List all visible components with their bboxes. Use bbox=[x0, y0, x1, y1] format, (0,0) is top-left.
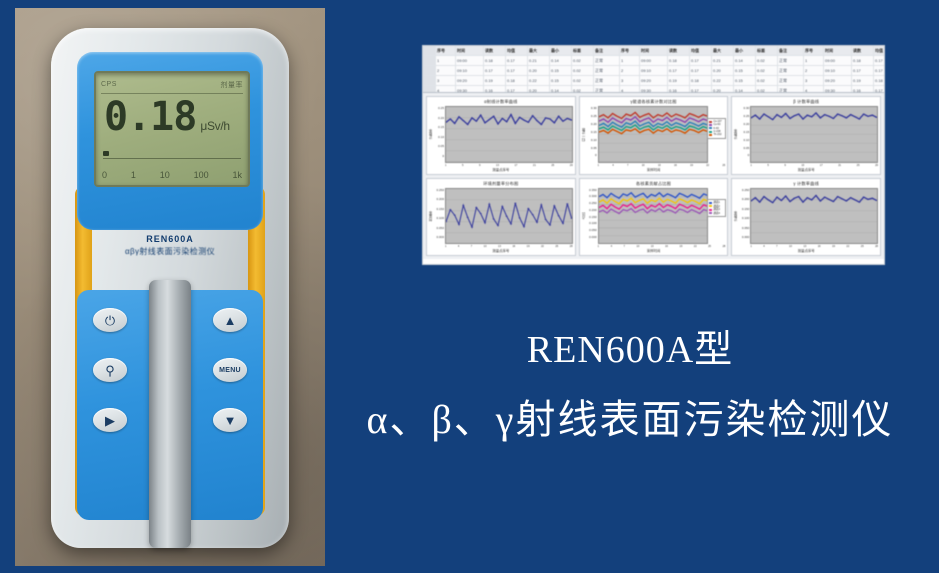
chart-plot-area bbox=[445, 188, 573, 245]
spreadsheet-cell: 09:10 bbox=[824, 66, 852, 75]
chart-x-axis-label: 测量点序号 bbox=[732, 167, 880, 174]
lcd-reading: 0.18 μSv/h bbox=[104, 97, 230, 137]
chart-y-tick: 0.150 bbox=[436, 207, 444, 211]
chart-plot-area bbox=[598, 188, 709, 245]
spreadsheet-cell: 0.14 bbox=[734, 56, 756, 65]
chart-data-point bbox=[872, 197, 874, 198]
spreadsheet-cell: 0.18 bbox=[506, 76, 528, 85]
chart-data-point bbox=[759, 118, 761, 119]
spreadsheet-cell: 0.14 bbox=[550, 56, 572, 65]
chart-data-point bbox=[772, 202, 774, 203]
chart-y-tick: 0.15 bbox=[743, 130, 749, 134]
lcd-value: 0.18 bbox=[104, 97, 196, 137]
chart-data-point bbox=[523, 226, 525, 227]
spreadsheet-cell: 0.22 bbox=[712, 76, 734, 85]
spreadsheet-cell: 0.19 bbox=[852, 76, 874, 85]
spreadsheet-row: 109:000.180.170.210.140.02正常109:000.180.… bbox=[423, 56, 884, 66]
spreadsheet-cell: 2 bbox=[804, 66, 824, 75]
chart-plot-area bbox=[750, 188, 878, 245]
chart-y-tick: 0.250 bbox=[742, 188, 750, 192]
chart-data-point bbox=[789, 201, 791, 202]
chart-data-point bbox=[841, 198, 843, 199]
chart-data-point bbox=[776, 114, 778, 115]
chevron-down-icon: ▼ bbox=[224, 414, 237, 427]
chart-data-point bbox=[571, 217, 572, 218]
spreadsheet-cell: 备注 bbox=[778, 46, 804, 55]
spreadsheet-cell: 0.16 bbox=[484, 86, 506, 93]
chart-data-point bbox=[527, 208, 529, 209]
spreadsheet-strip: 序号时间读数均值最大最小标差备注序号时间读数均值最大最小标差备注序号时间读数均值… bbox=[423, 46, 884, 93]
chart-data-point bbox=[497, 225, 499, 226]
chart-data-point bbox=[562, 222, 564, 223]
spreadsheet-row-index bbox=[423, 86, 436, 93]
lcd-status-row: CPS 剂量率 bbox=[101, 77, 243, 92]
spreadsheet-cell: 09:30 bbox=[456, 86, 484, 93]
chart-data-point bbox=[867, 198, 869, 199]
spreadsheet-cell: 最小 bbox=[550, 46, 572, 55]
chart-y-tick: 0.200 bbox=[742, 197, 750, 201]
spreadsheet-cell: 读数 bbox=[484, 46, 506, 55]
chart-data-point bbox=[833, 118, 835, 119]
chart-legend: 通道1通道2通道3通道4 bbox=[707, 199, 726, 217]
lcd-scale-tick: 1 bbox=[131, 170, 136, 180]
spreadsheet-cell: 0.17 bbox=[690, 86, 712, 93]
spreadsheet-cell: 4 bbox=[620, 86, 640, 93]
chart-x-axis-label: 测量点序号 bbox=[732, 248, 880, 255]
spreadsheet-cell: 0.16 bbox=[668, 86, 690, 93]
lcd-scale-tick: 1k bbox=[232, 170, 242, 180]
spreadsheet-cell: 0.18 bbox=[484, 56, 506, 65]
chart-data-point bbox=[510, 114, 512, 115]
chart-data-point bbox=[501, 118, 503, 119]
chart-data-point bbox=[545, 117, 547, 118]
software-screenshot: 序号时间读数均值最大最小标差备注序号时间读数均值最大最小标差备注序号时间读数均值… bbox=[422, 45, 885, 265]
legend-swatch bbox=[709, 124, 712, 126]
chart-data-point bbox=[772, 119, 774, 120]
chart-data-point bbox=[527, 122, 529, 123]
key-icon: ⚲ bbox=[105, 364, 115, 377]
chart-data-point bbox=[493, 218, 495, 219]
chart-y-tick: 0.20 bbox=[591, 122, 597, 126]
chart-data-point bbox=[768, 116, 770, 117]
legend-swatch bbox=[709, 209, 712, 211]
spreadsheet-cell: 正常 bbox=[778, 76, 804, 85]
legend-swatch bbox=[709, 134, 712, 136]
spreadsheet-cell: 正常 bbox=[778, 66, 804, 75]
chart-data-point bbox=[497, 123, 499, 124]
chart-y-tick: 0.30 bbox=[591, 106, 597, 110]
up-button[interactable]: ▲ bbox=[213, 308, 247, 332]
spreadsheet-cell: 09:10 bbox=[640, 66, 668, 75]
chart-data-point bbox=[471, 226, 473, 227]
spreadsheet-cell: 2 bbox=[620, 66, 640, 75]
play-icon: ▶ bbox=[105, 414, 115, 427]
chart-plot-area bbox=[598, 106, 709, 163]
down-button[interactable]: ▼ bbox=[213, 408, 247, 432]
chart-series-line bbox=[599, 112, 708, 118]
chart-data-point bbox=[562, 121, 564, 122]
chart-data-point bbox=[854, 116, 856, 117]
chart-y-tick: 0.05 bbox=[743, 146, 749, 150]
spreadsheet-cell: 0.02 bbox=[756, 66, 778, 75]
chart-data-point bbox=[480, 115, 482, 116]
chart-y-tick: 0.20 bbox=[438, 116, 444, 120]
legend-swatch bbox=[709, 121, 712, 123]
chart-data-point bbox=[789, 118, 791, 119]
device-faceplate-top: CPS 剂量率 0.18 μSv/h 01101001k bbox=[77, 52, 263, 230]
spreadsheet-cell: 0.15 bbox=[550, 66, 572, 75]
chart-data-point bbox=[859, 201, 861, 202]
spreadsheet-cell: 09:20 bbox=[824, 76, 852, 85]
spreadsheet-cell: 时间 bbox=[824, 46, 852, 55]
chart-y-tick: 0.200 bbox=[589, 208, 597, 212]
chart-y-tick: 0 bbox=[595, 153, 597, 157]
chart-data-point bbox=[846, 200, 848, 201]
chart-title: 各核素贡献占比图 bbox=[580, 179, 728, 187]
chart-dose-rate: 环境剂量率分布图剂量率0.2500.2000.1500.1000.0500.00… bbox=[426, 178, 576, 257]
chart-y-axis-label: 剂量率 bbox=[428, 188, 433, 245]
spreadsheet-cell: 0.18 bbox=[668, 56, 690, 65]
spreadsheet-cell: 0.17 bbox=[852, 66, 874, 75]
chart-data-point bbox=[828, 198, 830, 199]
lcd-bargraph-marker bbox=[103, 151, 109, 156]
chart-y-tick: 0.050 bbox=[436, 226, 444, 230]
chart-data-point bbox=[523, 120, 525, 121]
spreadsheet-cell: 时间 bbox=[640, 46, 668, 55]
chart-title: 环境剂量率分布图 bbox=[427, 179, 575, 187]
chart-data-point bbox=[850, 114, 852, 115]
chart-data-point bbox=[815, 113, 817, 114]
spreadsheet-row-index bbox=[423, 46, 436, 55]
chart-y-ticks: 0.300.250.200.150.100.050 bbox=[738, 106, 750, 163]
legend-label: Th-232 bbox=[713, 133, 721, 136]
chart-data-point bbox=[510, 223, 512, 224]
spreadsheet-cell: 0.02 bbox=[756, 76, 778, 85]
chart-data-point bbox=[458, 116, 460, 117]
chart-y-axis-label: 占比 bbox=[581, 188, 586, 245]
chart-y-tick: 0.200 bbox=[436, 197, 444, 201]
spreadsheet-cell: 正常 bbox=[594, 66, 620, 75]
spreadsheet-cell: 读数 bbox=[668, 46, 690, 55]
chart-y-tick: 0 bbox=[442, 154, 444, 158]
chart-data-point bbox=[824, 196, 826, 197]
legend-swatch bbox=[709, 131, 712, 133]
chart-data-point bbox=[781, 199, 783, 200]
spreadsheet-cell: 0.18 bbox=[874, 76, 884, 85]
spreadsheet-cell: 0.20 bbox=[712, 86, 734, 93]
chart-y-tick: 0.05 bbox=[438, 144, 444, 148]
spreadsheet-cell: 0.14 bbox=[734, 86, 756, 93]
chart-data-point bbox=[467, 124, 469, 125]
product-description-title: α、β、γ射线表面污染检测仪 bbox=[330, 387, 930, 445]
chart-y-tick: 0.10 bbox=[591, 138, 597, 142]
spreadsheet-cell: 0.17 bbox=[690, 66, 712, 75]
chart-y-tick: 0.000 bbox=[589, 235, 597, 239]
chart-stacked-nuclide: 各核素贡献占比图占比0.3500.3000.2500.2000.1500.100… bbox=[579, 178, 729, 257]
lcd-scale: 01101001k bbox=[102, 170, 242, 180]
legend-swatch bbox=[709, 205, 712, 207]
spreadsheet-cell: 4 bbox=[436, 86, 456, 93]
chart-alpha-count: α射线计数率曲线计数率0.250.200.150.100.05015913172… bbox=[426, 96, 576, 175]
chart-y-tick: 0.30 bbox=[743, 106, 749, 110]
spreadsheet-cell: 序号 bbox=[436, 46, 456, 55]
spreadsheet-cell: 4 bbox=[804, 86, 824, 93]
chart-y-tick: 0.250 bbox=[436, 188, 444, 192]
chart-data-point bbox=[846, 117, 848, 118]
power-button[interactable]: ⏻ bbox=[93, 308, 127, 332]
chart-series-line bbox=[446, 203, 572, 227]
chart-y-ticks: 0.2500.2000.1500.1000.0500.000 bbox=[433, 188, 445, 245]
chart-y-tick: 0.15 bbox=[591, 130, 597, 134]
chart-y-tick: 0.000 bbox=[436, 235, 444, 239]
chart-y-tick: 0.250 bbox=[589, 201, 597, 205]
spreadsheet-cell: 0.17 bbox=[690, 56, 712, 65]
chart-data-point bbox=[506, 215, 508, 216]
spreadsheet-cell: 最小 bbox=[734, 46, 756, 55]
spreadsheet-cell: 0.02 bbox=[572, 76, 594, 85]
chart-data-point bbox=[815, 195, 817, 196]
spreadsheet-cell: 读数 bbox=[852, 46, 874, 55]
chart-data-point bbox=[540, 204, 542, 205]
spreadsheet-cell: 1 bbox=[620, 56, 640, 65]
chart-legend-item: Th-232 bbox=[709, 133, 724, 136]
chart-data-point bbox=[807, 197, 809, 198]
spreadsheet-header-row: 序号时间读数均值最大最小标差备注序号时间读数均值最大最小标差备注序号时间读数均值… bbox=[423, 46, 884, 56]
lcd-unit: μSv/h bbox=[200, 119, 229, 133]
chart-data-point bbox=[763, 196, 765, 197]
spreadsheet-cell: 正常 bbox=[594, 86, 620, 93]
chart-data-point bbox=[553, 122, 555, 123]
chart-data-point bbox=[514, 202, 516, 203]
spreadsheet-cell: 0.17 bbox=[874, 56, 884, 65]
chart-legend-item: 通道4 bbox=[709, 212, 724, 215]
chart-data-point bbox=[841, 115, 843, 116]
menu-button[interactable]: MENU bbox=[213, 358, 247, 382]
spreadsheet-row: 209:100.170.170.200.150.02正常209:100.170.… bbox=[423, 66, 884, 76]
chart-data-point bbox=[837, 114, 839, 115]
legend-swatch bbox=[709, 212, 712, 214]
spreadsheet-cell: 0.15 bbox=[550, 76, 572, 85]
spreadsheet-cell: 3 bbox=[620, 76, 640, 85]
spreadsheet-cell: 3 bbox=[804, 76, 824, 85]
spreadsheet-cell: 09:00 bbox=[456, 56, 484, 65]
chart-series-line bbox=[599, 192, 708, 197]
chart-y-tick: 0 bbox=[748, 153, 750, 157]
spreadsheet-cell: 正常 bbox=[778, 86, 804, 93]
chevron-up-icon: ▲ bbox=[224, 314, 237, 327]
spreadsheet-cell: 正常 bbox=[778, 56, 804, 65]
chart-data-point bbox=[549, 118, 551, 119]
chart-data-point bbox=[475, 121, 477, 122]
chart-y-tick: 0.10 bbox=[438, 135, 444, 139]
chart-data-point bbox=[854, 199, 856, 200]
chart-data-point bbox=[493, 116, 495, 117]
chart-y-ticks: 0.2500.2000.1500.1000.0500.000 bbox=[738, 188, 750, 245]
lcd-status-right: 剂量率 bbox=[221, 80, 244, 90]
chart-data-point bbox=[794, 115, 796, 116]
spreadsheet-cell: 标差 bbox=[572, 46, 594, 55]
legend-label: 通道4 bbox=[713, 212, 720, 215]
legend-swatch bbox=[709, 202, 712, 204]
chart-y-tick: 0.300 bbox=[589, 194, 597, 198]
spreadsheet-cell: 最大 bbox=[528, 46, 550, 55]
chart-series-line bbox=[599, 208, 708, 213]
spreadsheet-cell: 0.17 bbox=[668, 66, 690, 75]
chart-data-point bbox=[488, 119, 490, 120]
chart-data-point bbox=[536, 120, 538, 121]
chart-y-tick: 0.25 bbox=[743, 114, 749, 118]
chart-data-point bbox=[462, 204, 464, 205]
chart-y-tick: 0.050 bbox=[742, 226, 750, 230]
chart-multi-nuclide: γ能谱各核素计数对比图归一计数0.300.250.200.150.100.050… bbox=[579, 96, 729, 175]
chart-y-tick: 0.15 bbox=[438, 125, 444, 129]
chart-data-point bbox=[833, 201, 835, 202]
chart-x-axis-label: 采样时间 bbox=[580, 167, 728, 174]
chart-data-point bbox=[488, 203, 490, 204]
spreadsheet-cell: 0.15 bbox=[734, 76, 756, 85]
spreadsheet-cell: 09:30 bbox=[824, 86, 852, 93]
chart-data-point bbox=[755, 197, 757, 198]
chart-data-point bbox=[867, 116, 869, 117]
lcd-display: CPS 剂量率 0.18 μSv/h 01101001k bbox=[94, 71, 250, 187]
spreadsheet-cell: 0.17 bbox=[506, 86, 528, 93]
chart-plot-area bbox=[445, 106, 573, 163]
spreadsheet-cell: 0.15 bbox=[734, 66, 756, 75]
lcd-status-left: CPS bbox=[101, 81, 117, 88]
chart-y-tick: 0.050 bbox=[589, 228, 597, 232]
chart-data-point bbox=[785, 113, 787, 114]
spreadsheet-cell: 时间 bbox=[456, 46, 484, 55]
spreadsheet-cell: 0.02 bbox=[572, 86, 594, 93]
spreadsheet-cell: 最大 bbox=[712, 46, 734, 55]
spreadsheet-cell: 0.18 bbox=[690, 76, 712, 85]
spreadsheet-cell: 0.20 bbox=[712, 66, 734, 75]
chart-plot-area bbox=[750, 106, 878, 163]
chart-y-axis-label: 归一计数 bbox=[581, 106, 586, 163]
chart-series-line bbox=[751, 113, 877, 120]
slide-canvas: CPS 剂量率 0.18 μSv/h 01101001k REN600A bbox=[0, 0, 939, 573]
chart-data-point bbox=[458, 223, 460, 224]
lcd-scale-tick: 0 bbox=[102, 170, 107, 180]
chart-legend: Cs-137Co-60K-40U-238Th-232 bbox=[707, 118, 726, 139]
power-icon: ⏻ bbox=[105, 314, 115, 327]
chart-data-point bbox=[824, 114, 826, 115]
spreadsheet-cell: 09:20 bbox=[456, 76, 484, 85]
chart-x-axis-label: 测量点序号 bbox=[427, 167, 575, 174]
spreadsheet-cell: 均值 bbox=[690, 46, 712, 55]
spreadsheet-cell: 1 bbox=[804, 56, 824, 65]
legend-swatch bbox=[709, 127, 712, 129]
chart-data-point bbox=[859, 118, 861, 119]
chart-title: α射线计数率曲线 bbox=[427, 97, 575, 105]
chart-data-point bbox=[794, 197, 796, 198]
chart-data-point bbox=[566, 203, 568, 204]
chart-data-point bbox=[449, 209, 451, 210]
spreadsheet-cell: 序号 bbox=[620, 46, 640, 55]
chart-data-point bbox=[558, 116, 560, 117]
spreadsheet-row-index bbox=[423, 66, 436, 75]
spreadsheet-cell: 0.22 bbox=[528, 76, 550, 85]
chart-data-point bbox=[514, 123, 516, 124]
spreadsheet-cell: 0.17 bbox=[484, 66, 506, 75]
key-button[interactable]: ⚲ bbox=[93, 358, 127, 382]
chart-data-point bbox=[519, 117, 521, 118]
spreadsheet-cell: 0.21 bbox=[528, 56, 550, 65]
spreadsheet-cell: 标差 bbox=[756, 46, 778, 55]
spreadsheet-cell: 0.02 bbox=[572, 66, 594, 75]
chart-grid: α射线计数率曲线计数率0.250.200.150.100.05015913172… bbox=[423, 93, 884, 259]
spreadsheet-cell: 0.18 bbox=[852, 56, 874, 65]
chart-data-point bbox=[807, 115, 809, 116]
chart-data-point bbox=[820, 200, 822, 201]
chart-series-line bbox=[446, 115, 572, 125]
product-model-title: REN600A型 bbox=[330, 318, 930, 373]
chart-data-point bbox=[506, 121, 508, 122]
chart-gamma-rate: γ 计数率曲线计数率0.2500.2000.1500.1000.0500.000… bbox=[731, 178, 881, 257]
chart-title: β 计数率曲线 bbox=[732, 97, 880, 105]
spreadsheet-cell: 0.21 bbox=[712, 56, 734, 65]
device-branding: REN600A αβγ射线表面污染检测仪 bbox=[77, 234, 263, 257]
spreadsheet-row-index bbox=[423, 56, 436, 65]
chart-data-point bbox=[449, 118, 451, 119]
device-model-label: REN600A bbox=[77, 234, 263, 244]
chart-data-point bbox=[776, 196, 778, 197]
chart-y-axis-label: 计数率 bbox=[428, 106, 433, 163]
spreadsheet-cell: 0.17 bbox=[506, 56, 528, 65]
play-button[interactable]: ▶ bbox=[93, 408, 127, 432]
device-photo: CPS 剂量率 0.18 μSv/h 01101001k REN600A bbox=[15, 8, 325, 566]
chart-data-point bbox=[566, 118, 568, 119]
chart-data-point bbox=[798, 196, 800, 197]
spreadsheet-cell: 均值 bbox=[874, 46, 884, 55]
chart-data-point bbox=[828, 116, 830, 117]
chart-data-point bbox=[863, 196, 865, 197]
lcd-scale-tick: 100 bbox=[194, 170, 209, 180]
spreadsheet-cell: 0.20 bbox=[528, 66, 550, 75]
spreadsheet-cell: 09:00 bbox=[824, 56, 852, 65]
chart-data-point bbox=[532, 214, 534, 215]
chart-data-point bbox=[471, 117, 473, 118]
device-model-sublabel: αβγ射线表面污染检测仪 bbox=[77, 246, 263, 257]
spreadsheet-row: 309:200.190.180.220.150.02正常309:200.190.… bbox=[423, 76, 884, 86]
chart-data-point bbox=[549, 224, 551, 225]
spreadsheet-row-index bbox=[423, 76, 436, 85]
chart-data-point bbox=[536, 221, 538, 222]
spreadsheet-cell: 0.17 bbox=[506, 66, 528, 75]
spreadsheet-cell: 0.16 bbox=[852, 86, 874, 93]
spreadsheet-cell: 均值 bbox=[506, 46, 528, 55]
spreadsheet-cell: 0.17 bbox=[874, 86, 884, 93]
chart-data-point bbox=[462, 120, 464, 121]
chart-y-axis-label: 计数率 bbox=[733, 188, 738, 245]
chart-y-tick: 0.05 bbox=[591, 146, 597, 150]
chart-y-tick: 0.150 bbox=[742, 207, 750, 211]
chart-data-point bbox=[811, 116, 813, 117]
chart-data-point bbox=[872, 115, 874, 116]
chart-data-point bbox=[820, 117, 822, 118]
spreadsheet-cell: 09:10 bbox=[456, 66, 484, 75]
chart-data-point bbox=[545, 219, 547, 220]
chart-y-ticks: 0.250.200.150.100.050 bbox=[433, 106, 445, 163]
chart-data-point bbox=[446, 221, 447, 222]
chart-data-point bbox=[837, 196, 839, 197]
spreadsheet-cell: 2 bbox=[436, 66, 456, 75]
chart-y-tick: 0.150 bbox=[589, 215, 597, 219]
chart-data-point bbox=[454, 214, 456, 215]
chart-y-tick: 0.100 bbox=[589, 221, 597, 225]
chart-y-tick: 0.25 bbox=[591, 114, 597, 118]
lcd-scale-tick: 10 bbox=[160, 170, 170, 180]
